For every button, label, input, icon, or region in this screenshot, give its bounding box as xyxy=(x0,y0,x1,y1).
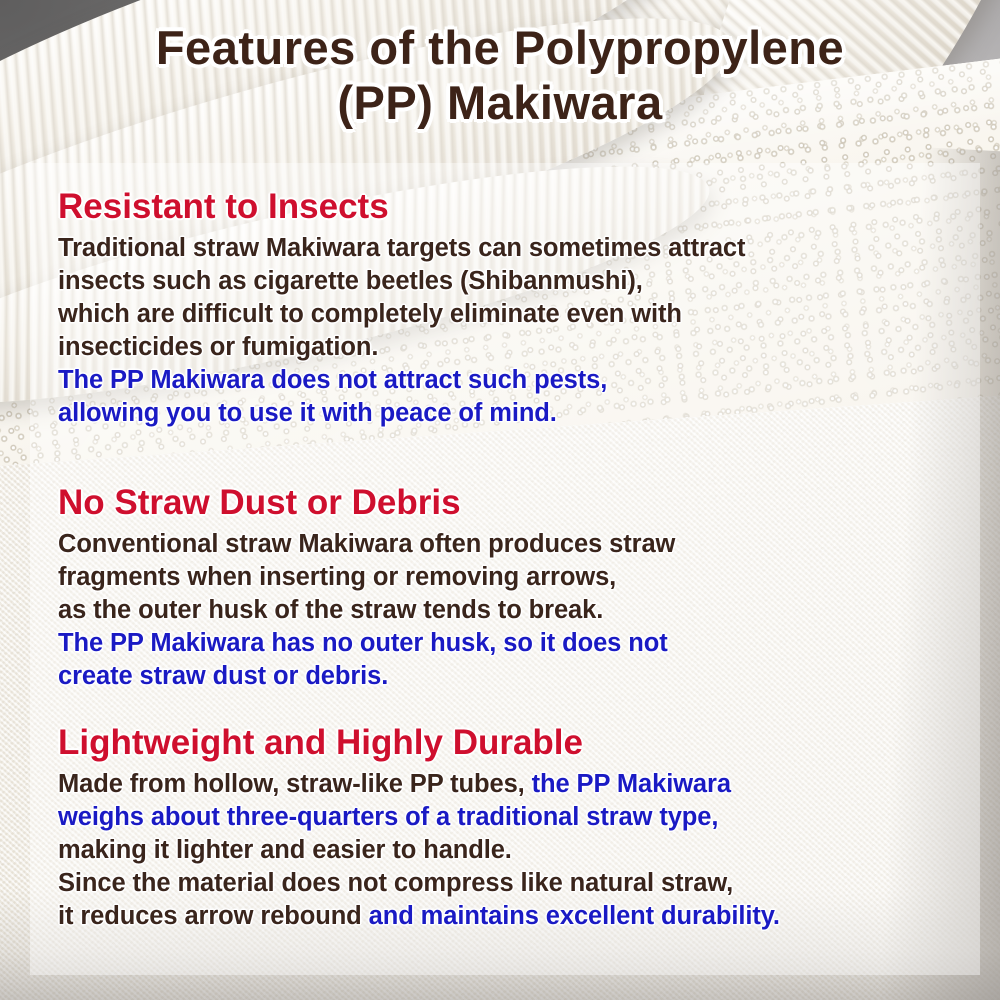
body-text-run: Conventional straw Makiwara often produc… xyxy=(58,530,675,558)
body-text-line: it reduces arrow rebound and maintains e… xyxy=(58,900,780,933)
body-text-line: allowing you to use it with peace of min… xyxy=(58,397,745,430)
feature-section-insects: Resistant to Insects Traditional straw M… xyxy=(58,188,745,430)
body-text-run: Made from hollow, straw-like PP tubes, xyxy=(58,770,532,798)
body-text-line: making it lighter and easier to handle. xyxy=(58,834,780,867)
body-text-line: Traditional straw Makiwara targets can s… xyxy=(58,232,745,265)
section-body: Conventional straw Makiwara often produc… xyxy=(58,528,675,693)
body-text-run: which are difficult to completely elimin… xyxy=(58,300,682,328)
body-text-run: insecticides or fumigation. xyxy=(58,333,378,361)
highlight-text-run: and maintains excellent durability. xyxy=(369,902,780,930)
section-heading: Lightweight and Highly Durable xyxy=(58,724,780,762)
section-body: Made from hollow, straw-like PP tubes, t… xyxy=(58,768,780,933)
feature-section-dust: No Straw Dust or Debris Conventional str… xyxy=(58,484,675,693)
section-heading: Resistant to Insects xyxy=(58,188,745,226)
body-text-line: Made from hollow, straw-like PP tubes, t… xyxy=(58,768,780,801)
body-text-line: insecticides or fumigation. xyxy=(58,331,745,364)
infographic-canvas: Features of the Polypropylene (PP) Makiw… xyxy=(0,0,1000,1000)
page-title-line-1: Features of the Polypropylene xyxy=(0,22,1000,75)
body-text-line: insects such as cigarette beetles (Shiba… xyxy=(58,265,745,298)
body-text-run: Traditional straw Makiwara targets can s… xyxy=(58,234,745,262)
body-text-line: as the outer husk of the straw tends to … xyxy=(58,594,675,627)
body-text-run: making it lighter and easier to handle. xyxy=(58,836,512,864)
page-title-line-2: (PP) Makiwara xyxy=(0,77,1000,130)
body-text-run: fragments when inserting or removing arr… xyxy=(58,563,616,591)
page-title: Features of the Polypropylene (PP) Makiw… xyxy=(0,22,1000,129)
body-text-line: weighs about three-quarters of a traditi… xyxy=(58,801,780,834)
body-text-line: which are difficult to completely elimin… xyxy=(58,298,745,331)
feature-section-durability: Lightweight and Highly Durable Made from… xyxy=(58,724,780,933)
section-heading: No Straw Dust or Debris xyxy=(58,484,675,522)
section-body: Traditional straw Makiwara targets can s… xyxy=(58,232,745,430)
body-text-line: The PP Makiwara has no outer husk, so it… xyxy=(58,627,675,660)
body-text-line: create straw dust or debris. xyxy=(58,660,675,693)
body-text-run: Since the material does not compress lik… xyxy=(58,869,733,897)
body-text-line: The PP Makiwara does not attract such pe… xyxy=(58,364,745,397)
body-text-run: as the outer husk of the straw tends to … xyxy=(58,596,603,624)
highlight-text-run: the PP Makiwara xyxy=(532,770,731,798)
body-text-run: insects such as cigarette beetles (Shiba… xyxy=(58,267,643,295)
body-text-line: Conventional straw Makiwara often produc… xyxy=(58,528,675,561)
body-text-run: it reduces arrow rebound xyxy=(58,902,369,930)
body-text-line: fragments when inserting or removing arr… xyxy=(58,561,675,594)
body-text-line: Since the material does not compress lik… xyxy=(58,867,780,900)
